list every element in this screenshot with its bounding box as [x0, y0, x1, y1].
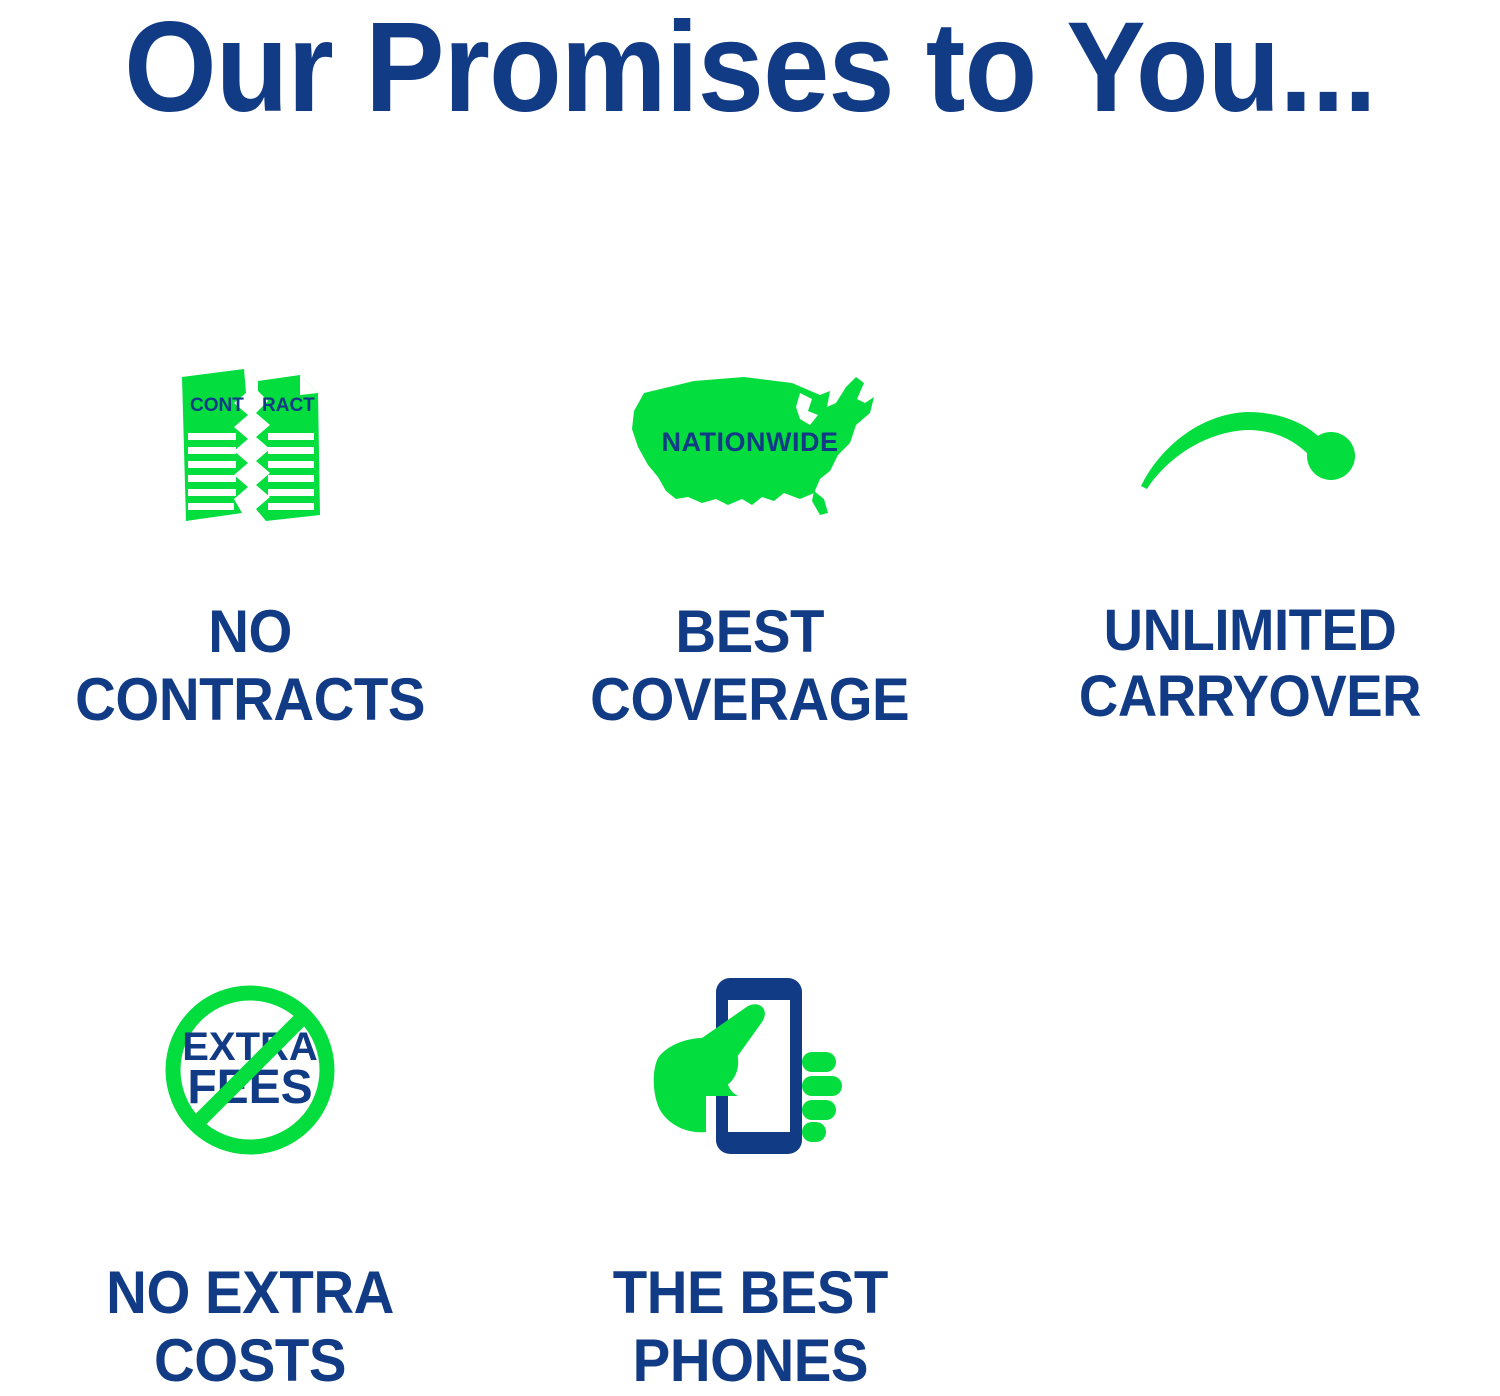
promises-graphic: Our Promises to You... — [0, 0, 1500, 1367]
carryover-arc-icon — [1135, 390, 1365, 500]
hand-holding-phone-icon — [644, 972, 856, 1168]
promise-label-best-coverage: BEST COVERAGE — [590, 598, 909, 735]
nationwide-text: NATIONWIDE — [662, 427, 839, 457]
promise-label-unlimited-carryover: UNLIMITED CARRYOVER — [1079, 598, 1421, 730]
contract-text-left: CONT — [190, 395, 244, 416]
promise-item-no-extra-costs: EXTRA FEES NO EXTRA COSTS — [0, 955, 500, 1396]
promise-label-no-contracts: NO CONTRACTS — [75, 598, 425, 735]
contract-text-right: RACT — [262, 395, 315, 416]
promise-item-no-contracts: CONT RACT NO CONTRACTS — [0, 330, 500, 735]
promise-item-the-best-phones: THE BEST PHONES — [500, 955, 1000, 1396]
promise-item-best-coverage: NATIONWIDE BEST COVERAGE — [500, 330, 1000, 735]
promise-item-unlimited-carryover: UNLIMITED CARRYOVER — [1000, 330, 1500, 735]
icon-container — [1135, 330, 1365, 560]
page-title: Our Promises to You... — [53, 4, 1448, 132]
promise-label-the-best-phones: THE BEST PHONES — [612, 1259, 887, 1396]
icon-container: NATIONWIDE — [624, 330, 876, 560]
usa-map-icon: NATIONWIDE — [624, 373, 876, 518]
carryover-endpoint-dot — [1307, 432, 1355, 480]
icon-container — [644, 955, 856, 1185]
no-extra-fees-icon: EXTRA FEES — [161, 981, 339, 1159]
promises-row-top: CONT RACT NO CONTRACTS NATIONWIDE BEST C… — [0, 330, 1500, 735]
torn-contract-icon: CONT RACT — [170, 363, 330, 528]
promise-label-no-extra-costs: NO EXTRA COSTS — [106, 1259, 394, 1396]
icon-container: CONT RACT — [170, 330, 330, 560]
icon-container: EXTRA FEES — [161, 955, 339, 1185]
promises-row-bottom: EXTRA FEES NO EXTRA COSTS — [0, 955, 1500, 1396]
